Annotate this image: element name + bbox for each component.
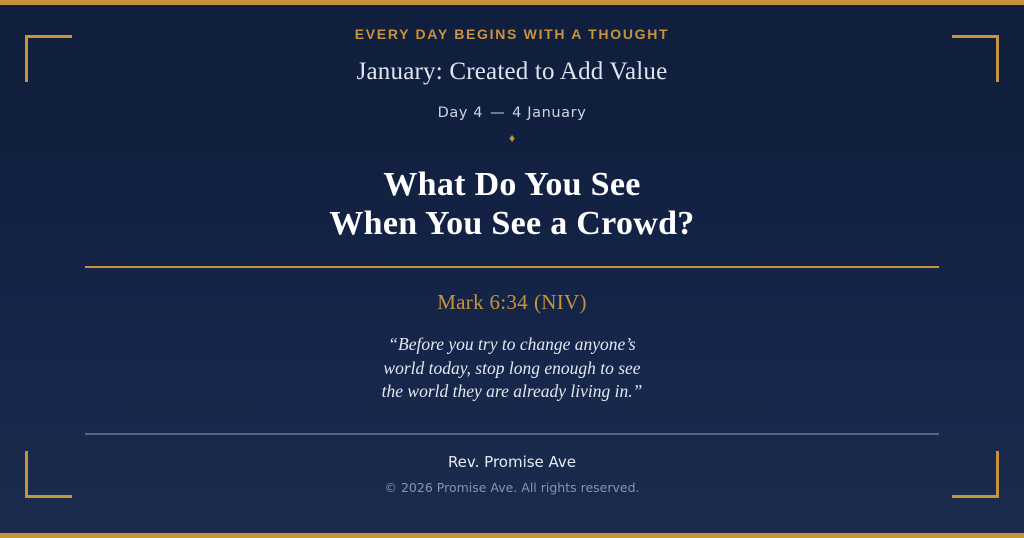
- day-label: Day 4: [438, 105, 483, 121]
- devotional-card: EVERY DAY BEGINS WITH A THOUGHT January:…: [0, 0, 1024, 538]
- corner-bracket-bottom-right: [952, 451, 999, 498]
- copyright-notice: © 2026 Promise Ave. All rights reserved.: [85, 480, 939, 495]
- title-line-1: What Do You See: [85, 165, 939, 204]
- title-line-2: When You See a Crowd?: [85, 204, 939, 243]
- author-name: Rev. Promise Ave: [85, 453, 939, 471]
- divider-above-verse: [85, 266, 939, 268]
- card-content: EVERY DAY BEGINS WITH A THOUGHT January:…: [0, 0, 1024, 538]
- verse-translation: (NIV): [528, 290, 587, 314]
- verse-citation: Mark 6:34: [437, 290, 528, 314]
- quote-line-1: “Before you try to change anyone’s: [85, 333, 939, 357]
- corner-bracket-bottom-left: [25, 451, 72, 498]
- bottom-accent-bar: [0, 533, 1024, 538]
- dash-separator: —: [483, 105, 512, 121]
- day-date-line: Day 4—4 January: [85, 105, 939, 121]
- eyebrow-tagline: EVERY DAY BEGINS WITH A THOUGHT: [85, 26, 939, 42]
- series-title: January: Created to Add Value: [85, 58, 939, 86]
- corner-bracket-top-right: [952, 35, 999, 82]
- quote-line-2: world today, stop long enough to see: [85, 357, 939, 381]
- page-title: What Do You See When You See a Crowd?: [85, 165, 939, 243]
- top-accent-bar: [0, 0, 1024, 5]
- quote-text: “Before you try to change anyone’s world…: [85, 333, 939, 404]
- diamond-ornament-icon: ♦: [85, 132, 939, 144]
- quote-line-3: the world they are already living in.”: [85, 380, 939, 404]
- corner-bracket-top-left: [25, 35, 72, 82]
- divider-above-footer: [85, 433, 939, 435]
- verse-reference: Mark 6:34(NIV): [85, 290, 939, 315]
- date-label: 4 January: [512, 105, 586, 121]
